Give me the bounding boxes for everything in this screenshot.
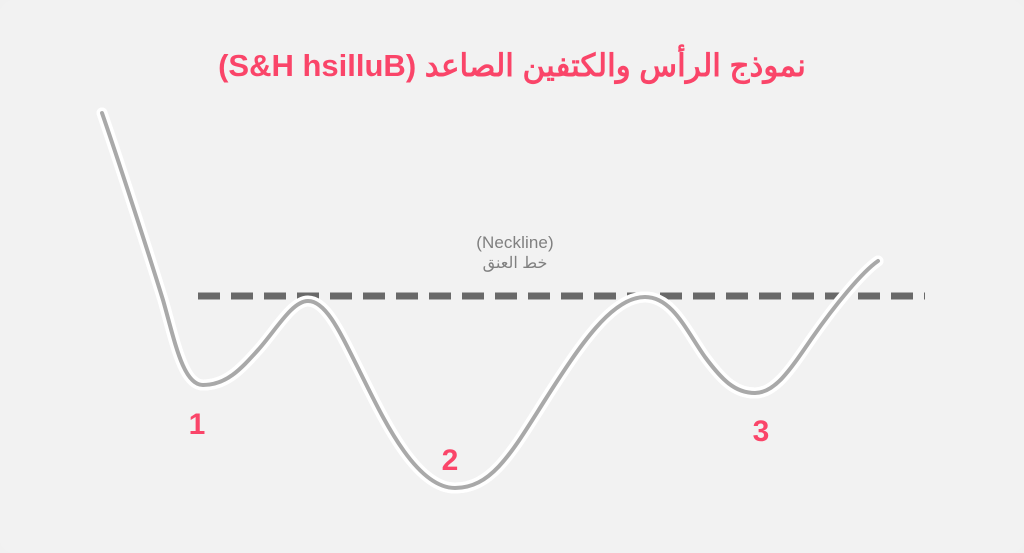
head-and-shoulders-diagram: [0, 0, 1024, 553]
point-label-left-shoulder: 1: [177, 410, 217, 440]
neckline-label: (Neckline) خط العنق: [395, 232, 635, 274]
neckline-label-arabic: خط العنق: [395, 253, 635, 274]
point-label-right-shoulder: 3: [741, 417, 781, 447]
point-label-head: 2: [430, 446, 470, 476]
chart-stage: نموذج الرأس والكتفين الصاعد (Bullish H&S…: [0, 0, 1024, 553]
neckline-label-english: (Neckline): [395, 232, 635, 253]
